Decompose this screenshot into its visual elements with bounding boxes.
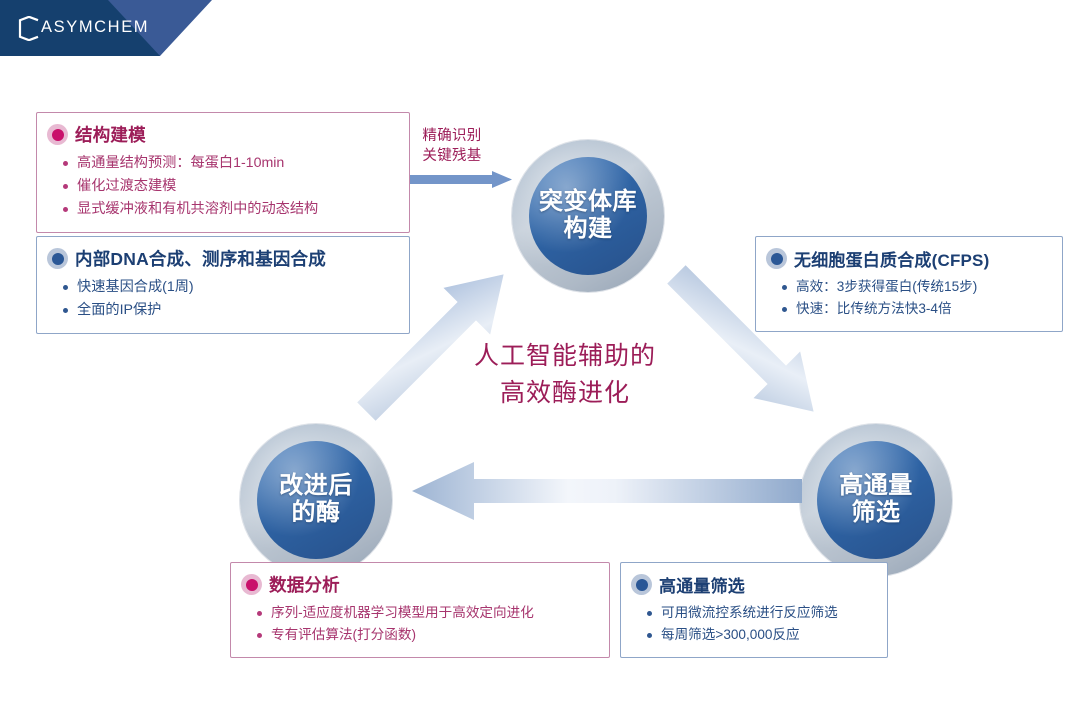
logo-wordmark: ASYMCHEM (41, 19, 149, 37)
center-caption: 人工智能辅助的 高效酶进化 (435, 338, 695, 411)
infobox-list: 快速基因合成(1周) 全面的IP保护 (47, 276, 397, 322)
list-item: 每周筛选>300,000反应 (631, 624, 875, 646)
hexagon-c-icon (18, 16, 40, 41)
arrow-annotation-line-1: 精确识别 (422, 128, 481, 144)
list-item: 序列-适应度机器学习模型用于高效定向进化 (241, 602, 597, 624)
bullet-marker-icon (47, 248, 68, 269)
arrow-annotation-line-2: 关键残基 (422, 148, 481, 164)
infobox-header: 高通量筛选 (631, 572, 875, 597)
node-line-2: 的酶 (292, 499, 341, 526)
node-line-2: 构建 (564, 215, 613, 242)
infobox-header: 无细胞蛋白质合成(CFPS) (766, 246, 1050, 271)
infobox-list: 可用微流控系统进行反应筛选 每周筛选>300,000反应 (631, 602, 875, 646)
infobox-list: 序列-适应度机器学习模型用于高效定向进化 专有评估算法(打分函数) (241, 602, 597, 646)
node-line-1: 高通量 (839, 472, 913, 499)
bullet-marker-icon (47, 124, 68, 145)
node-mutant-library-label: 突变体库 构建 (539, 189, 637, 243)
list-item: 高效：3步获得蛋白(传统15步) (766, 276, 1050, 298)
list-item: 专有评估算法(打分函数) (241, 624, 597, 646)
list-item: 显式缓冲液和有机共溶剂中的动态结构 (47, 198, 397, 221)
infobox-list: 高效：3步获得蛋白(传统15步) 快速：比传统方法快3-4倍 (766, 276, 1050, 320)
infobox-list: 高通量结构预测：每蛋白1-10min 催化过渡态建模 显式缓冲液和有机共溶剂中的… (47, 152, 397, 221)
center-caption-line-1: 人工智能辅助的 (474, 342, 656, 370)
arrow-left-icon (412, 462, 802, 520)
list-item: 高通量结构预测：每蛋白1-10min (47, 152, 397, 175)
slide-canvas: ASYMCHEM 突变体库 构建 高通量 筛选 改进后 的酶 (0, 0, 1080, 707)
node-line-2: 筛选 (852, 499, 901, 526)
infobox-title: 高通量筛选 (659, 572, 745, 597)
infobox-cell-free-protein-synthesis[interactable]: 无细胞蛋白质合成(CFPS) 高效：3步获得蛋白(传统15步) 快速：比传统方法… (755, 236, 1063, 332)
infobox-high-throughput-screening[interactable]: 高通量筛选 可用微流控系统进行反应筛选 每周筛选>300,000反应 (620, 562, 888, 658)
bullet-marker-icon (766, 248, 787, 269)
infobox-data-analysis[interactable]: 数据分析 序列-适应度机器学习模型用于高效定向进化 专有评估算法(打分函数) (230, 562, 610, 658)
list-item: 催化过渡态建模 (47, 175, 397, 198)
infobox-title: 结构建模 (75, 122, 146, 147)
list-item: 快速：比传统方法快3-4倍 (766, 298, 1050, 320)
bullet-marker-icon (631, 574, 652, 595)
node-line-1: 突变体库 (539, 188, 637, 215)
list-item: 可用微流控系统进行反应筛选 (631, 602, 875, 624)
asymchem-logo: ASYMCHEM (18, 14, 149, 42)
infobox-header: 内部DNA合成、测序和基因合成 (47, 246, 397, 271)
infobox-title: 内部DNA合成、测序和基因合成 (75, 246, 326, 271)
list-item: 快速基因合成(1周) (47, 276, 397, 299)
infobox-dna-synthesis[interactable]: 内部DNA合成、测序和基因合成 快速基因合成(1周) 全面的IP保护 (36, 236, 410, 334)
list-item: 全面的IP保护 (47, 299, 397, 322)
arrow-annotation: 精确识别 关键残基 (392, 126, 512, 166)
center-caption-line-2: 高效酶进化 (500, 379, 630, 407)
node-hts-label: 高通量 筛选 (839, 473, 913, 527)
infobox-structure-modeling[interactable]: 结构建模 高通量结构预测：每蛋白1-10min 催化过渡态建模 显式缓冲液和有机… (36, 112, 410, 233)
infobox-header: 数据分析 (241, 572, 597, 597)
infobox-title: 无细胞蛋白质合成(CFPS) (794, 246, 989, 271)
infobox-header: 结构建模 (47, 122, 397, 147)
infobox-title: 数据分析 (269, 572, 340, 597)
node-line-1: 改进后 (279, 472, 353, 499)
bullet-marker-icon (241, 574, 262, 595)
node-improved-enzyme-label: 改进后 的酶 (279, 473, 353, 527)
